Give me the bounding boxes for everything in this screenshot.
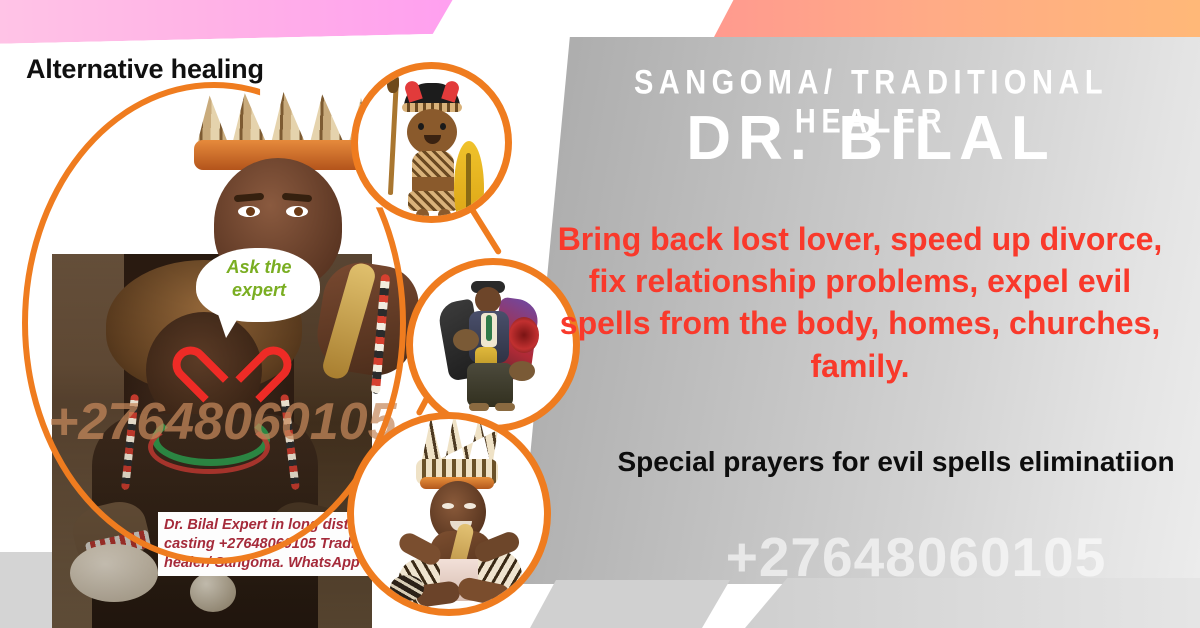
warrior-leg-right [438,209,451,223]
warrior-spear-tip [387,71,399,93]
diviner-pants [467,363,513,407]
circle-dancer-illustration [347,412,551,616]
warrior-eye-left [418,123,424,130]
dancer-eye-right [464,503,476,509]
diviner-red-swirl [509,317,539,353]
top-orange-bar [714,0,1200,37]
diviner-foot-right [495,403,515,411]
doctor-name: DR. BILAL [556,108,1186,170]
warrior-chest-pattern [412,151,454,177]
diviner-tie [486,315,492,341]
top-pink-bar [0,0,461,44]
warrior-spear-shaft [388,77,399,195]
diviner-foot-left [469,403,489,411]
page-title: Alternative healing [26,54,264,85]
diviner-head [475,287,501,313]
bottom-left-gray-block [0,552,56,628]
poster-canvas: Alternative healing +27648060105 Dr. Bil… [0,0,1200,628]
dancer-fur-tail [390,575,424,601]
warrior-face [407,109,457,155]
dancer-eye-left [442,503,454,509]
warrior-leg-left [416,209,429,223]
diviner-bag-left [453,329,479,351]
ghost-phone-number: +27648060105 [640,525,1192,589]
warrior-eye-right [440,123,446,130]
circle-zulu-warrior-illustration [351,62,512,223]
special-prayers-text: Special prayers for evil spells eliminat… [600,443,1192,481]
warrior-skirt [408,191,458,211]
services-text: Bring back lost lover, speed up divorce,… [540,218,1180,387]
diviner-bag-right [509,361,535,381]
warrior-shield-stripe [466,153,471,223]
